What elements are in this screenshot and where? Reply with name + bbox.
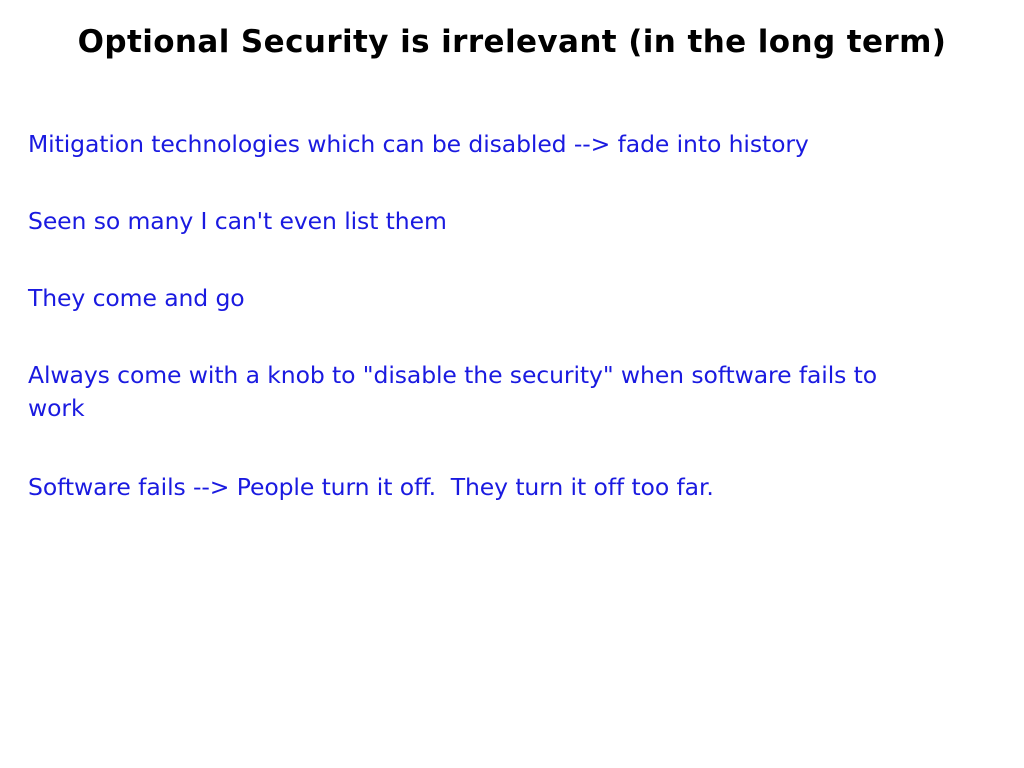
page-title: Optional Security is irrelevant (in the …: [0, 22, 1024, 62]
body-paragraph-1: Mitigation technologies which can be dis…: [28, 128, 918, 161]
body-paragraph-2: Seen so many I can't even list them: [28, 205, 918, 238]
body-paragraph-3: They come and go: [28, 282, 918, 315]
presentation-slide: Optional Security is irrelevant (in the …: [0, 0, 1024, 768]
slide-body: Mitigation technologies which can be dis…: [28, 128, 958, 504]
body-paragraph-5: Software fails --> People turn it off. T…: [28, 471, 918, 504]
body-paragraph-4: Always come with a knob to "disable the …: [28, 359, 928, 425]
